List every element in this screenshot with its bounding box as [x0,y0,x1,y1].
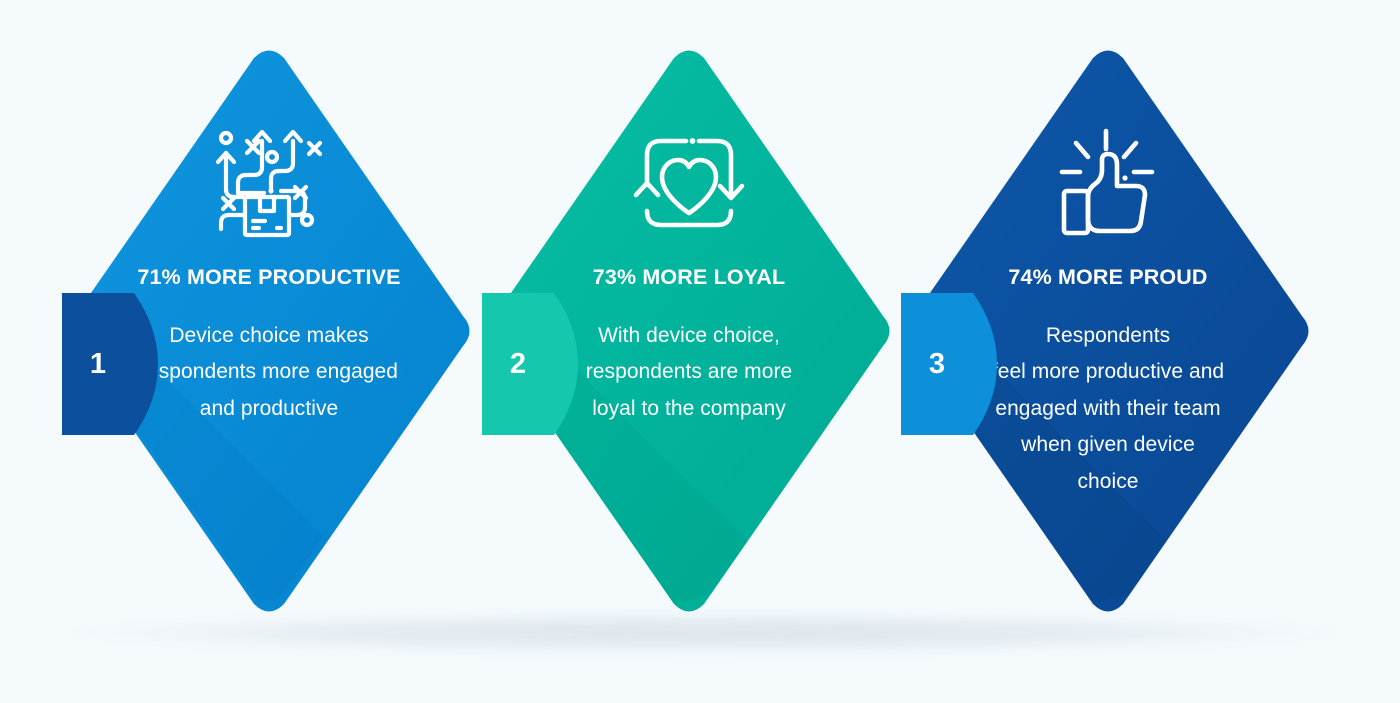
card-productive[interactable]: 71% MORE PRODUCTIVE Device choice makesr… [64,47,474,615]
card-heading-1: 71% MORE PRODUCTIVE [99,265,439,291]
card-heading-3: 74% MORE PROUD [938,265,1278,291]
card-loyal[interactable]: 73% MORE LOYAL With device choice,respon… [484,47,894,615]
step-badge-number-2: 2 [482,293,554,435]
step-badge-3[interactable]: 3 [901,293,997,435]
card-proud[interactable]: 74% MORE PROUD Respondentsfeel more prod… [903,47,1313,615]
step-badge-number-1: 1 [62,293,134,435]
infographic-container: 71% MORE PRODUCTIVE Device choice makesr… [0,0,1400,703]
step-badge-1[interactable]: 1 [62,293,158,435]
card-heading-2: 73% MORE LOYAL [519,265,859,291]
step-badge-2[interactable]: 2 [482,293,578,435]
ground-shadow [60,612,1350,654]
step-badge-number-3: 3 [901,293,973,435]
